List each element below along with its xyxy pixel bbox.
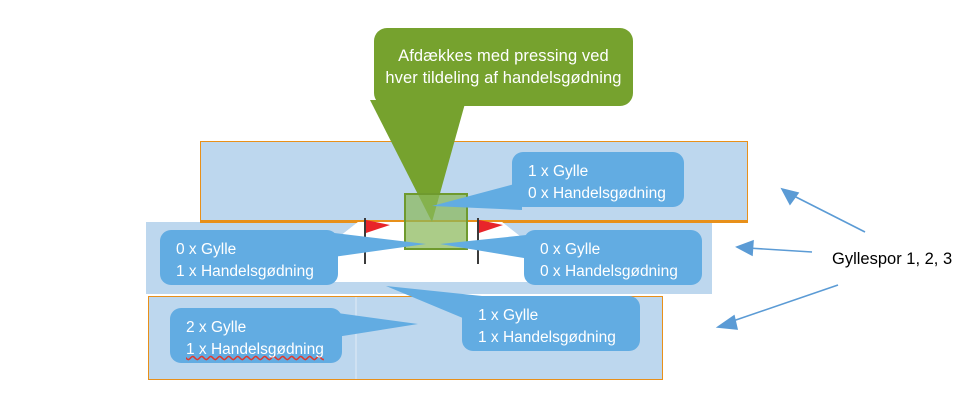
- callout-tail-mid-left: [326, 228, 426, 262]
- callout-mid-left-line2: 1 x Handelsgødning: [176, 261, 324, 283]
- callout-bot-left-line1: 2 x Gylle: [186, 317, 328, 339]
- callout-top: 1 x Gylle 0 x Handelsgødning: [512, 152, 684, 207]
- callout-bot-left-line2: 1 x Handelsgødning: [186, 339, 328, 361]
- callout-mid-right-line2: 0 x Handelsgødning: [540, 261, 688, 283]
- callout-tail-top: [432, 176, 522, 218]
- callout-bot-right-line1: 1 x Gylle: [478, 305, 626, 327]
- green-callout-pressing: Afdækkes med pressing ved hver tildeling…: [374, 28, 633, 106]
- callout-bot-right: 1 x Gylle 1 x Handelsgødning: [462, 296, 640, 351]
- callout-mid-left-line1: 0 x Gylle: [176, 239, 324, 261]
- callout-tail-mid-right: [440, 230, 536, 264]
- callout-mid-left: 0 x Gylle 1 x Handelsgødning: [160, 230, 338, 285]
- side-label-gyllespor: Gyllespor 1, 2, 3: [832, 250, 952, 269]
- callout-top-line1: 1 x Gylle: [528, 161, 670, 183]
- green-callout-text: Afdækkes med pressing ved hver tildeling…: [385, 45, 621, 89]
- callout-mid-right-line1: 0 x Gylle: [540, 239, 688, 261]
- callout-top-line2: 0 x Handelsgødning: [528, 183, 670, 205]
- callout-bot-right-line2: 1 x Handelsgødning: [478, 327, 626, 349]
- diagram-canvas: Afdækkes med pressing ved hver tildeling…: [0, 0, 980, 406]
- callout-mid-right: 0 x Gylle 0 x Handelsgødning: [524, 230, 702, 285]
- callout-bot-left: 2 x Gylle 1 x Handelsgødning: [170, 308, 342, 363]
